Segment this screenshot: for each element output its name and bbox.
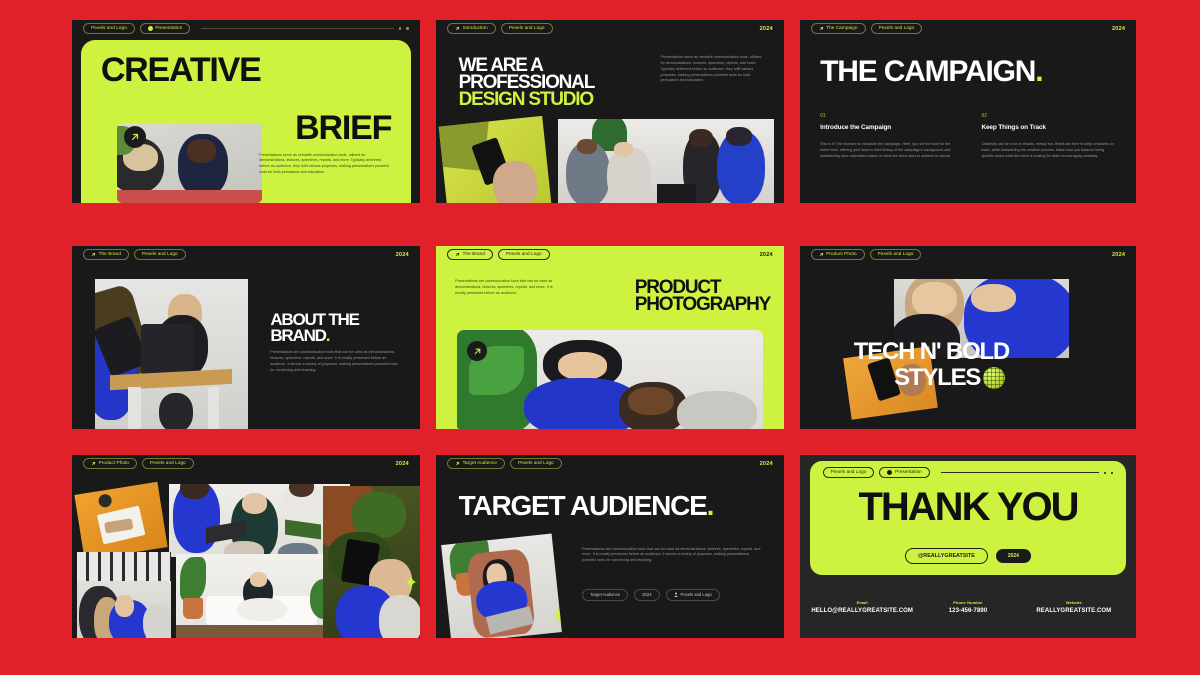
pill-label: Presentation (895, 470, 922, 475)
contact-website: Website REALLYGREATSITE.COM (1018, 600, 1129, 614)
slide-product-photography[interactable]: The Brand Pexels and Logo 2024 Presentat… (436, 246, 784, 429)
rule-dot (399, 27, 401, 29)
column-01: 01 Introduce the Campaign This is it! Th… (820, 113, 954, 159)
arrow-icon (91, 252, 96, 257)
pill-label: The Campaign (826, 26, 857, 31)
contact-value[interactable]: REALLYGREATSITE.COM (1018, 608, 1129, 614)
pill-label: The Brand (99, 252, 121, 257)
pill-pexels-and-logo[interactable]: Pexels and Logo (142, 458, 194, 469)
sparkle-icon (404, 574, 418, 590)
tag-label: 2024 (642, 592, 651, 597)
pill-label: Pexels and Logo (509, 26, 545, 31)
year-label: 2024 (1112, 26, 1125, 32)
column-body: This is it! The moment to introduce the … (820, 142, 954, 160)
pill-introduction[interactable]: Introduction (447, 23, 496, 34)
photo-woman-at-desk (95, 279, 248, 429)
contact-label: Phone Number (918, 600, 1019, 605)
title-period: . (707, 493, 714, 519)
globe-icon (983, 367, 1005, 389)
pill-pexels-and-logo[interactable]: Pexels and Logo (870, 249, 922, 260)
year-label: 2024 (396, 461, 409, 467)
column-number: 02 (981, 113, 1115, 119)
arrow-icon (455, 26, 460, 31)
pill-pexels-and-logo[interactable]: Pexels and Logo (823, 467, 875, 478)
rule-dot (1104, 472, 1106, 474)
slide-the-campaign[interactable]: The Campaign Pexels and Logo 2024 THE CA… (800, 20, 1136, 203)
pill-label: The Brand (463, 252, 485, 257)
slide-creative-brief[interactable]: Pexels and Logo Presentation CREATIVE BR… (72, 20, 420, 203)
rule-dot (1111, 472, 1113, 474)
column-02: 02 Keep Things on Track Creativity can b… (981, 113, 1115, 159)
sparkle-icon (551, 605, 563, 627)
photo-hand-holding-phone (323, 486, 420, 638)
year-label: 2024 (1112, 252, 1125, 258)
contact-label: Website (1018, 600, 1129, 605)
year-label: 2024 (396, 252, 409, 258)
slide-thank-you[interactable]: Pexels and Logo Presentation THANK YOU @… (800, 455, 1136, 638)
year-chip[interactable]: 2024 (996, 549, 1031, 563)
slide-header: Pexels and Logo Presentation (810, 461, 1126, 484)
pill-the-campaign[interactable]: The Campaign (811, 23, 866, 34)
column-heading: Introduce the Campaign (820, 124, 954, 132)
pill-label: Target Audience (463, 461, 497, 466)
tag-pexels-and-logo[interactable]: Pexels and Logo (666, 589, 720, 601)
tag-target-audience[interactable]: Target Audience (582, 589, 628, 601)
title-period: . (1035, 58, 1042, 86)
pill-pexels-and-logo[interactable]: Pexels and Logo (498, 249, 550, 260)
title-line-1: TECH N' BOLD (854, 341, 1009, 363)
slide-deck-canvas: Pexels and Logo Presentation CREATIVE BR… (0, 0, 1200, 675)
pill-label: Presentation (155, 26, 182, 31)
body-paragraph: Presentations serve as versatile communi… (259, 153, 391, 177)
pill-the-brand[interactable]: The Brand (447, 249, 493, 260)
pill-the-brand[interactable]: The Brand (83, 249, 129, 260)
arrow-icon (455, 461, 460, 466)
title-period: . (326, 328, 330, 344)
year-label: 2024 (760, 26, 773, 32)
photo-orange-desk-flatlay (74, 482, 167, 560)
photo-woman-on-white-sofa (176, 554, 343, 638)
body-paragraph: Presentations are communication tools th… (582, 547, 763, 565)
photo-phone-on-yellow-paper (439, 115, 552, 203)
pill-label: Pexels and Logo (142, 252, 178, 257)
arrow-icon (819, 252, 824, 257)
arrow-icon (819, 26, 824, 31)
pill-pexels-and-logo[interactable]: Pexels and Logo (510, 458, 562, 469)
pill-label: Product Photo (826, 252, 856, 257)
pill-product-photo[interactable]: Product Photo (83, 458, 137, 469)
slide-target-audience[interactable]: Target Audience Pexels and Logo 2024 TAR… (436, 455, 784, 638)
arrow-icon (91, 461, 96, 466)
title-line-1: CREATIVE (101, 55, 261, 86)
slide-photo-grid[interactable]: Product Photo Pexels and Logo 2024 (72, 455, 420, 638)
pill-presentation[interactable]: Presentation (140, 23, 191, 34)
slide-header: The Brand Pexels and Logo 2024 (72, 246, 420, 263)
slide-about-the-brand[interactable]: The Brand Pexels and Logo 2024 ABOUT THE… (72, 246, 420, 429)
slide-header: Product Photo Pexels and Logo 2024 (72, 455, 420, 472)
title-line-2: STYLES (894, 367, 980, 389)
title-line-2: BRAND (270, 328, 325, 344)
photo-woman-and-child (457, 330, 763, 429)
contact-email: Email HELLO@REALLYGREATSITE.COM (807, 600, 918, 614)
contact-footer: Email HELLO@REALLYGREATSITE.COM Phone Nu… (800, 587, 1136, 638)
photo-team-on-couch (558, 119, 774, 203)
photo-woman-with-laptop-on-chair (442, 534, 563, 638)
slide-header: Product Photo Pexels and Logo 2024 (800, 246, 1136, 263)
photo-two-people-reclining (77, 552, 171, 638)
tag-year[interactable]: 2024 (634, 589, 659, 601)
column-body: Creativity can be a lot of chaotic, mess… (981, 142, 1115, 160)
body-paragraph: Presentations serve as versatile communi… (660, 55, 764, 85)
page-title: THANK YOU (810, 489, 1126, 526)
rule-dot (406, 27, 408, 29)
user-icon (674, 592, 678, 597)
pill-product-photo[interactable]: Product Photo (811, 249, 865, 260)
header-rule (195, 27, 409, 29)
slide-design-studio[interactable]: Introduction Pexels and Logo 2024 WE ARE… (436, 20, 784, 203)
header-rule (935, 472, 1113, 474)
rule-line (941, 472, 1099, 473)
pill-pexels-and-logo[interactable]: Pexels and Logo (501, 23, 553, 34)
pill-label: Pexels and Logo (878, 252, 914, 257)
pill-label: Pexels and Logo (150, 461, 186, 466)
contact-value[interactable]: 123-456-7890 (918, 608, 1019, 614)
year-label: 2024 (760, 461, 773, 467)
title-line-2: PHOTOGRAPHY (635, 296, 770, 313)
slide-header: Introduction Pexels and Logo 2024 (436, 20, 784, 37)
contact-label: Email (807, 600, 918, 605)
pill-label: Introduction (463, 26, 488, 31)
contact-phone: Phone Number 123-456-7890 (918, 600, 1019, 614)
title-line-3: DESIGN STUDIO (459, 91, 593, 108)
arrow-icon (455, 252, 460, 257)
pill-label: Pexels and Logo (506, 252, 542, 257)
slide-header: The Brand Pexels and Logo 2024 (436, 246, 784, 263)
rule-line (201, 28, 394, 29)
slide-header: The Campaign Pexels and Logo 2024 (800, 20, 1136, 37)
pill-pexels-and-logo[interactable]: Pexels and Logo (871, 23, 923, 34)
tag-label: Target Audience (590, 592, 620, 597)
pill-label: Pexels and Logo (518, 461, 554, 466)
lime-card: CREATIVE BRIEF Presentations serve as ve… (81, 40, 411, 203)
pill-pexels-and-logo[interactable]: Pexels and Logo (134, 249, 186, 260)
pill-pexels-and-logo[interactable]: Pexels and Logo (83, 23, 135, 34)
pill-target-audience[interactable]: Target Audience (447, 458, 505, 469)
body-paragraph: Presentations are communication tools th… (270, 350, 399, 374)
pill-label: Product Photo (99, 461, 129, 466)
page-title: TARGET AUDIENCE (459, 493, 707, 519)
title-line-2: BRIEF (295, 113, 391, 144)
contact-value[interactable]: HELLO@REALLYGREATSITE.COM (807, 608, 918, 614)
dot-icon (887, 470, 892, 475)
column-number: 01 (820, 113, 954, 119)
page-title: THE CAMPAIGN (820, 58, 1035, 86)
pill-label: Pexels and Logo (879, 26, 915, 31)
dot-icon (148, 26, 153, 31)
slide-header: Pexels and Logo Presentation (72, 20, 420, 37)
pill-label: Pexels and Logo (91, 26, 127, 31)
pill-presentation[interactable]: Presentation (879, 467, 930, 478)
year-label: 2024 (760, 252, 773, 258)
column-heading: Keep Things on Track (981, 124, 1115, 132)
slide-header: Target Audience Pexels and Logo 2024 (436, 455, 784, 472)
handle-chip[interactable]: @REALLYGREATSITE (905, 548, 988, 564)
body-paragraph: Presentations are communication tools th… (455, 279, 556, 297)
tag-label: Pexels and Logo (681, 592, 712, 597)
slide-tech-bold-styles[interactable]: Product Photo Pexels and Logo 2024 TECH … (800, 246, 1136, 429)
pill-label: Pexels and Logo (831, 470, 867, 475)
tag-row: Target Audience 2024 Pexels and Logo (582, 589, 720, 601)
